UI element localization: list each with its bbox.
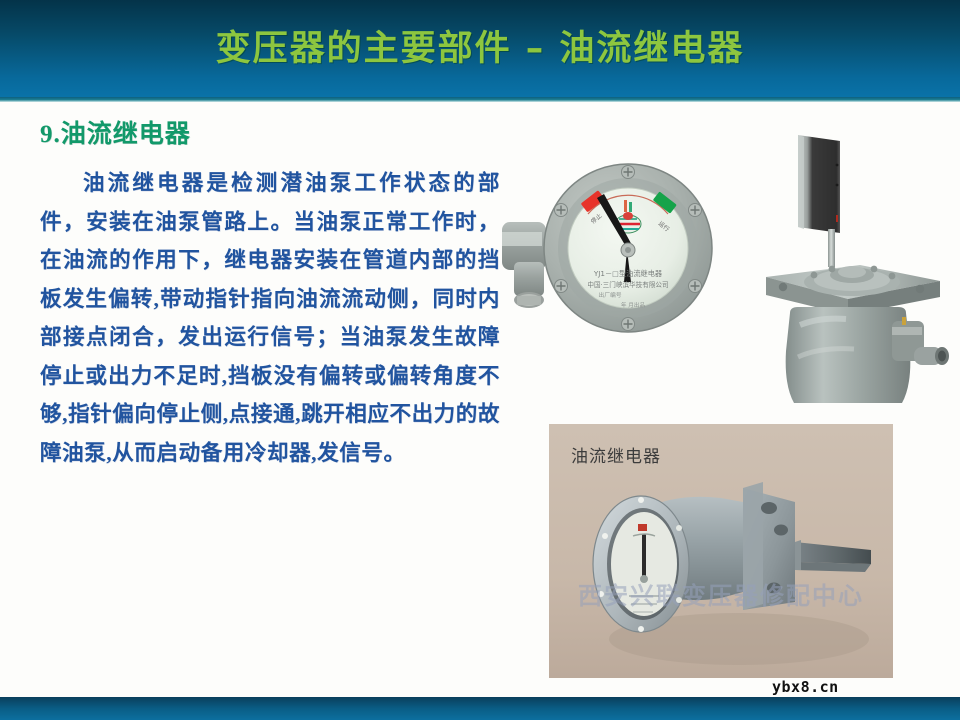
site-watermark: ybx8.cn bbox=[772, 678, 839, 696]
relay-photo-frame: 油流继电器 西安兴联变压器修配中心 bbox=[549, 424, 893, 678]
gauge-dial-company-text: 中国·三门峡滨华技有限公司 bbox=[587, 280, 668, 289]
slide-footer-band bbox=[0, 697, 960, 720]
body-paragraph: 油流继电器是检测潜油泵工作状态的部件，安装在油泵管路上。当油泵正常工作时，在油流… bbox=[40, 164, 500, 472]
vane-shaft bbox=[828, 229, 835, 267]
page-title: 变压器的主要部件 – 油流继电器 bbox=[0, 20, 960, 71]
text-column: 9.油流继电器 油流继电器是检测潜油泵工作状态的部件，安装在油泵管路上。当油泵正… bbox=[40, 118, 500, 472]
vane-paddle bbox=[798, 135, 840, 233]
vane-illustration bbox=[752, 125, 952, 415]
gauge-photo: 停止 运行 YJ1－□型油流继电器 中国·三门峡滨华技有限公司 出厂编号 年 月… bbox=[500, 150, 735, 350]
slide-canvas: 变压器的主要部件 – 油流继电器 9.油流继电器 油流继电器是检测潜油泵工作状态… bbox=[0, 0, 960, 720]
vane-lower-body bbox=[786, 307, 911, 403]
vane-side-connector bbox=[892, 317, 949, 365]
gauge-junction-box bbox=[502, 222, 546, 308]
relay-photo-caption: 油流继电器 bbox=[571, 442, 661, 467]
relay-photo-watermark: 西安兴联变压器修配中心 bbox=[561, 576, 881, 611]
vane-photo bbox=[752, 125, 952, 415]
gauge-dial-date-label: 年 月出品 bbox=[621, 301, 646, 309]
gauge-dial-model-text: YJ1－□型油流继电器 bbox=[593, 269, 662, 278]
gauge-illustration: 停止 运行 YJ1－□型油流继电器 中国·三门峡滨华技有限公司 出厂编号 年 月… bbox=[500, 150, 735, 350]
gauge-dial-serial-label: 出厂编号 bbox=[598, 291, 621, 299]
section-heading: 9.油流继电器 bbox=[40, 118, 500, 152]
header-divider-rule bbox=[0, 97, 960, 102]
